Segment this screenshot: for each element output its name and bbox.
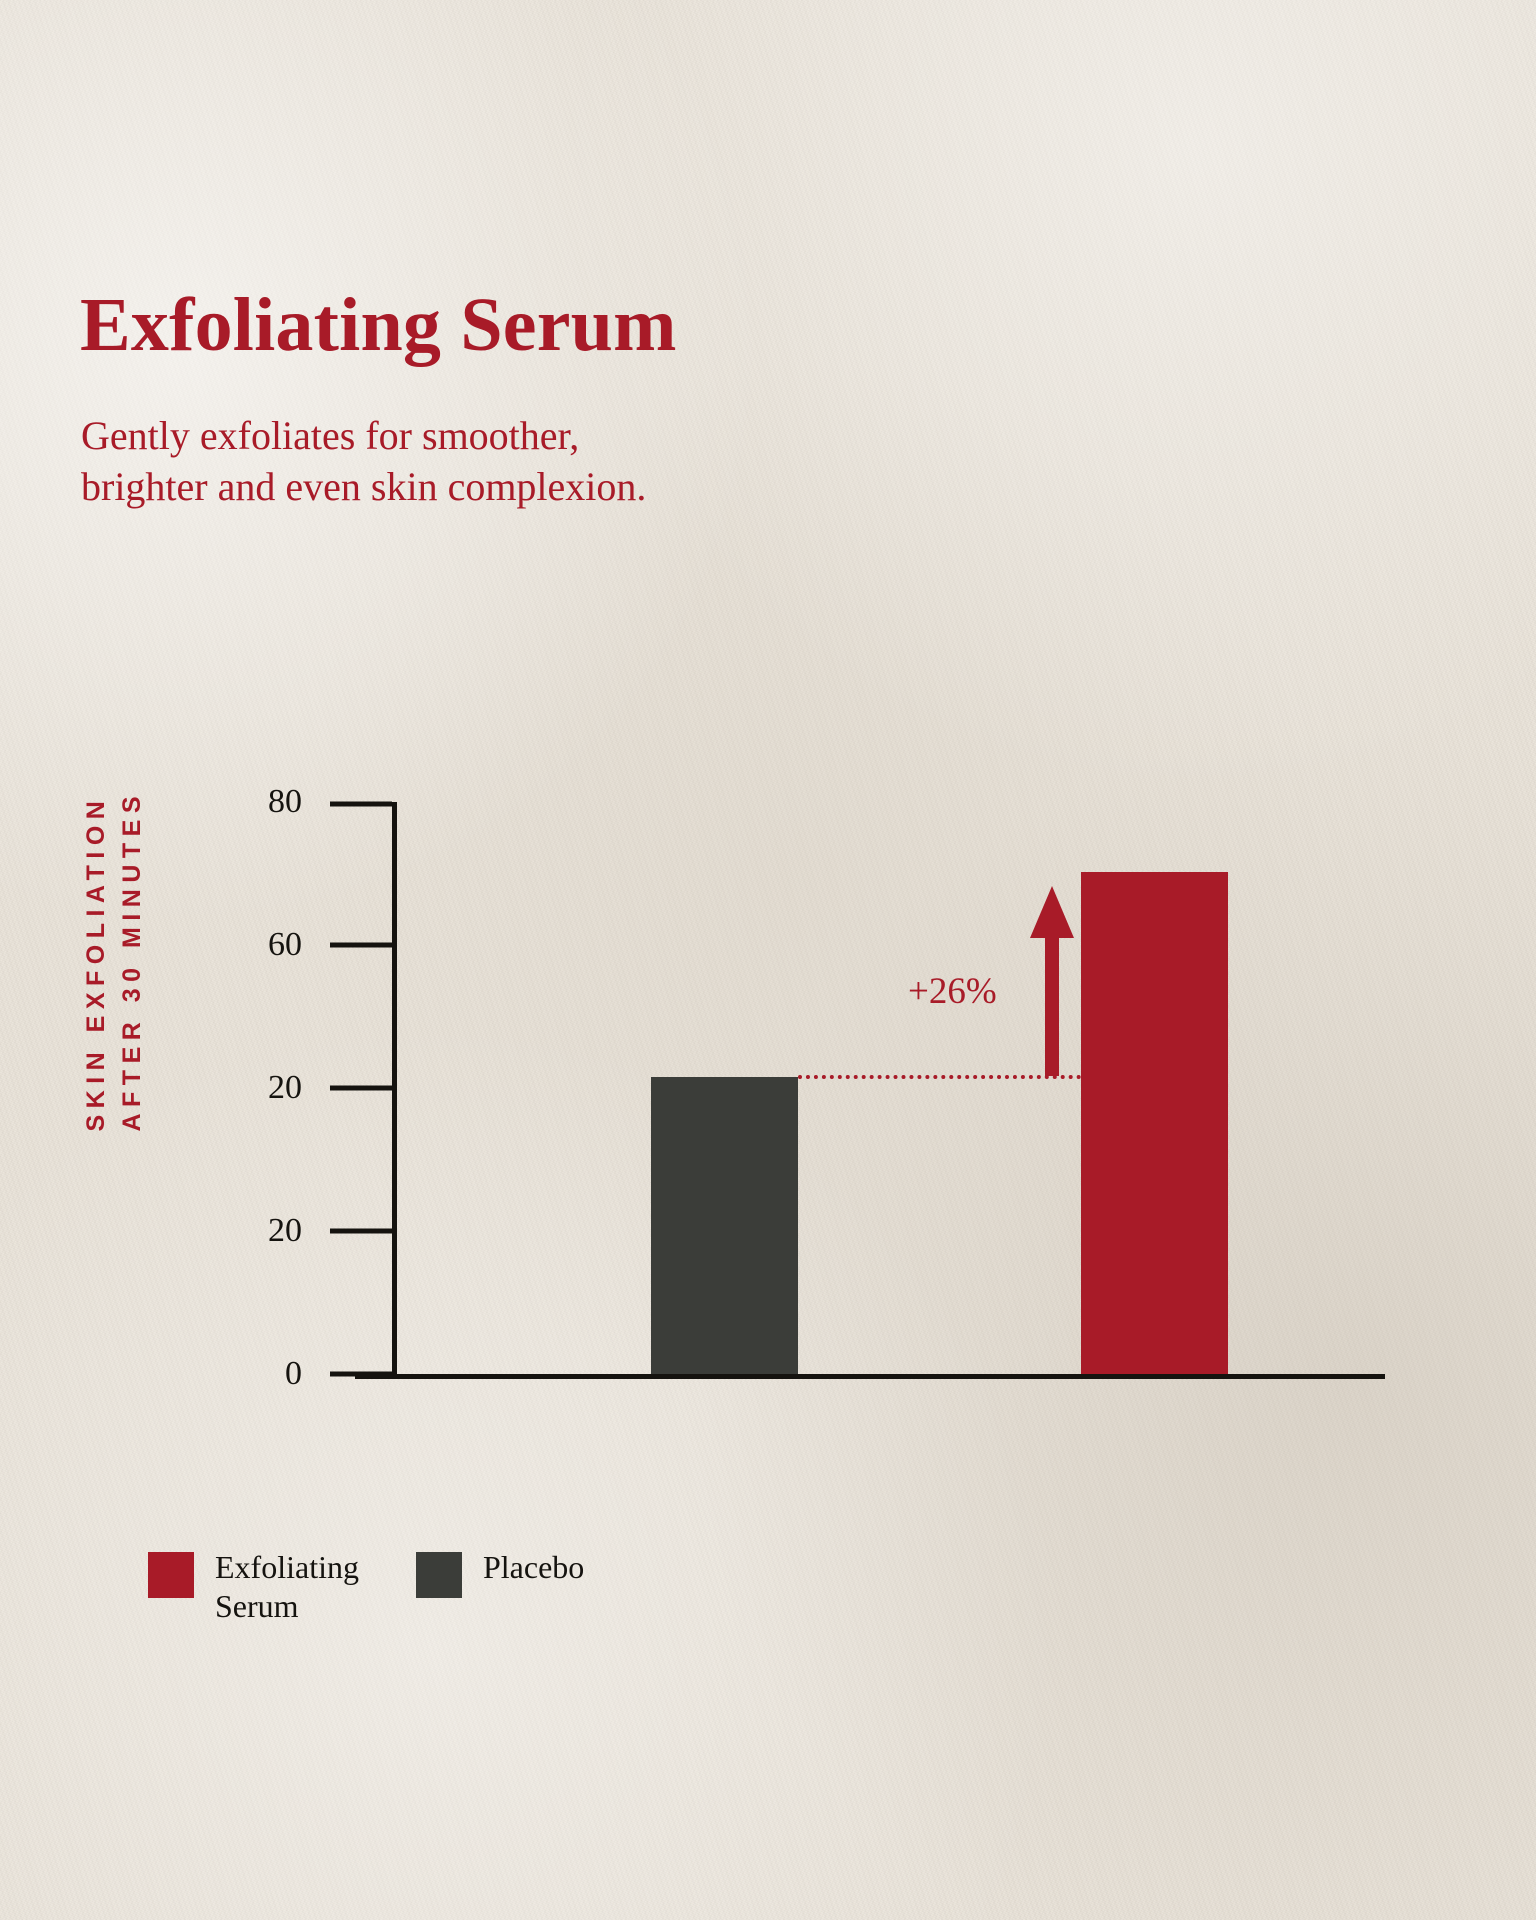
arrow-shaft [1045, 932, 1059, 1076]
legend-label-serum: Exfoliating Serum [215, 1548, 359, 1626]
legend-swatch-serum [148, 1552, 194, 1598]
poster-page: Exfoliating Serum Gently exfoliates for … [0, 0, 1536, 1920]
arrow-head [1030, 886, 1074, 938]
legend-label-serum-line-2: Serum [215, 1588, 299, 1624]
legend-item-exfoliating-serum: Exfoliating Serum [148, 1548, 359, 1626]
legend-item-placebo: Placebo [416, 1548, 584, 1598]
bar-placebo [651, 1077, 798, 1374]
legend-label-serum-line-1: Exfoliating [215, 1549, 359, 1585]
legend-swatch-placebo [416, 1552, 462, 1598]
bar-chart: SKIN EXFOLIATION AFTER 30 MINUTES 80 60 … [0, 0, 1536, 1920]
bar-exfoliating-serum [1081, 872, 1228, 1374]
x-axis-line [355, 1374, 1385, 1379]
legend-label-placebo: Placebo [483, 1548, 584, 1587]
chart-legend: Exfoliating Serum Placebo [148, 1548, 584, 1626]
plot-area: +26% [0, 0, 1536, 1374]
delta-up-arrow-icon [1030, 886, 1074, 1076]
delta-percentage-label: +26% [908, 970, 997, 1013]
